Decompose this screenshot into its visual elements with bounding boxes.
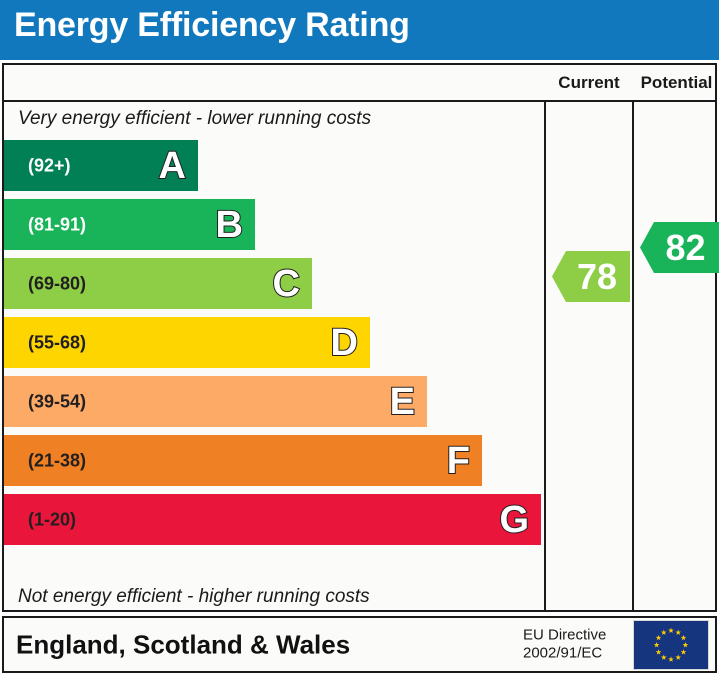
current-rating-arrow-value: 78 (565, 259, 617, 295)
eu-star (656, 634, 662, 639)
page-title: Energy Efficiency Rating (14, 6, 410, 45)
eu-star (675, 629, 681, 634)
column-header-current: Current (546, 65, 632, 100)
eu-star (656, 649, 662, 654)
eu-star (661, 629, 667, 634)
chart-panel: Current Potential Very energy efficient … (2, 63, 717, 612)
band-range-g: (1-20) (28, 509, 76, 530)
band-range-c: (69-80) (28, 273, 86, 294)
eu-flag-icon (633, 620, 709, 670)
band-range-a: (92+) (28, 155, 71, 176)
eu-star (668, 627, 674, 632)
rating-band-e: (39-54)E (4, 376, 427, 427)
band-letter-a: A (159, 147, 186, 185)
eu-star (668, 656, 674, 661)
band-letter-f: F (447, 442, 470, 480)
band-letter-b: B (216, 206, 243, 244)
column-divider-potential (632, 102, 634, 610)
band-range-b: (81-91) (28, 214, 86, 235)
potential-rating-arrow: 82 (640, 222, 719, 273)
chart-title-bar: Energy Efficiency Rating (0, 0, 719, 60)
rating-bands: (92+)A(81-91)B(69-80)C(55-68)D(39-54)E(2… (4, 65, 544, 610)
rating-band-b: (81-91)B (4, 199, 255, 250)
eu-star (681, 634, 687, 639)
column-header-potential: Potential (634, 65, 719, 100)
band-letter-e: E (390, 383, 415, 421)
eu-star (654, 642, 660, 647)
eu-star (675, 654, 681, 659)
rating-band-g: (1-20)G (4, 494, 541, 545)
band-letter-g: G (499, 501, 529, 539)
rating-band-c: (69-80)C (4, 258, 312, 309)
chart-footer: England, Scotland & Wales EU Directive 2… (2, 616, 717, 673)
eu-star (681, 649, 687, 654)
eu-stars-svg (634, 621, 708, 669)
band-range-d: (55-68) (28, 332, 86, 353)
band-letter-c: C (273, 265, 300, 303)
eu-star (661, 654, 667, 659)
energy-efficiency-rating-chart: Energy Efficiency Rating Current Potenti… (0, 0, 719, 675)
band-range-e: (39-54) (28, 391, 86, 412)
rating-band-f: (21-38)F (4, 435, 482, 486)
rating-band-d: (55-68)D (4, 317, 370, 368)
directive-line-1: EU Directive (523, 626, 606, 645)
footer-directive: EU Directive 2002/91/EC (523, 626, 606, 664)
band-letter-d: D (331, 324, 358, 362)
potential-rating-arrow-value: 82 (653, 230, 705, 266)
rating-band-a: (92+)A (4, 140, 198, 191)
current-rating-arrow: 78 (552, 251, 630, 302)
footer-region-label: England, Scotland & Wales (16, 629, 350, 660)
eu-star (683, 642, 689, 647)
directive-line-2: 2002/91/EC (523, 645, 606, 664)
column-divider-current (544, 102, 546, 610)
band-range-f: (21-38) (28, 450, 86, 471)
